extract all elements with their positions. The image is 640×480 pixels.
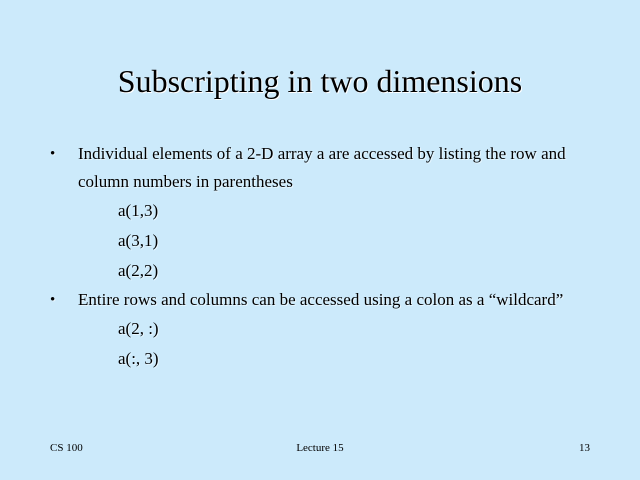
- code-line: a(3,1): [0, 226, 640, 256]
- code-line: a(1,3): [0, 196, 640, 226]
- code-line: a(2, :): [0, 314, 640, 344]
- footer-page-number: 13: [0, 440, 590, 456]
- list-item-label: Entire rows and columns can be accessed …: [78, 290, 563, 309]
- slide-body: • Individual elements of a 2-D array a a…: [0, 140, 640, 374]
- list-item-label: Individual elements of a 2-D array a are…: [78, 144, 566, 191]
- page-title: Subscripting in two dimensions: [40, 62, 600, 100]
- code-line: a(:, 3): [0, 344, 640, 374]
- code-line: a(2,2): [0, 256, 640, 286]
- list-item: • Individual elements of a 2-D array a a…: [0, 140, 640, 196]
- slide-footer: CS 100 Lecture 15 13: [0, 440, 640, 460]
- bullet-icon: •: [50, 140, 55, 168]
- slide: Subscripting in two dimensions • Individ…: [0, 0, 640, 480]
- bullet-icon: •: [50, 286, 55, 314]
- list-item: • Entire rows and columns can be accesse…: [0, 286, 640, 314]
